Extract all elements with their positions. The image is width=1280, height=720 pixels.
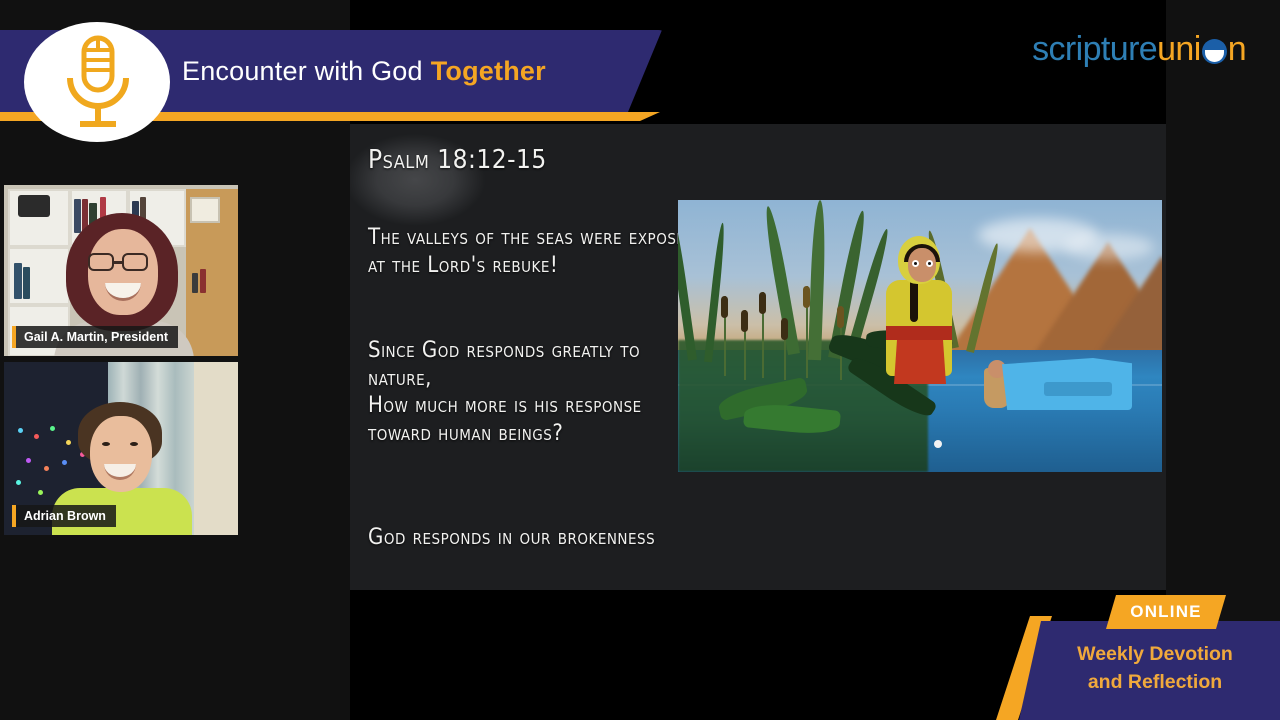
slide-scripture-reference: Psalm 18:12-15	[368, 144, 547, 177]
mountain-3	[1098, 256, 1162, 352]
book	[23, 267, 30, 299]
participant-name: Adrian Brown	[24, 509, 106, 523]
slide-paragraph-1: The valleys of the seas were exposed at …	[368, 224, 698, 279]
blanket-shadow	[1044, 382, 1112, 396]
participant-name: Gail A. Martin, President	[24, 330, 168, 344]
string-light	[16, 480, 21, 485]
cattail	[741, 310, 748, 332]
slide-paragraph-3: God responds in our brokenness	[368, 524, 698, 552]
string-light	[50, 426, 55, 431]
promo-line-1: Weekly Devotion	[1030, 640, 1280, 668]
book	[14, 263, 22, 299]
wood-shelf	[186, 293, 238, 356]
cattail	[759, 292, 766, 314]
participant-eye-left	[102, 442, 110, 446]
presentation-slide: Psalm 18:12-15 The valleys of the seas w…	[350, 124, 1166, 590]
girl-pupil-right	[928, 262, 931, 265]
string-light	[34, 434, 39, 439]
promo-line-2: and Reflection	[1030, 668, 1280, 696]
promo-text: Weekly Devotion and Reflection	[1030, 640, 1280, 697]
eyeglass-right	[122, 253, 148, 271]
book	[192, 273, 198, 293]
participant-eye-right	[130, 442, 138, 446]
girl-sash	[886, 326, 952, 340]
string-light	[38, 490, 43, 495]
string-light	[44, 466, 49, 471]
water-highlight	[934, 440, 942, 448]
show-title-main: Encounter with God	[182, 56, 423, 87]
cattail	[721, 296, 728, 318]
string-light	[66, 440, 71, 445]
string-light	[18, 428, 23, 433]
microphone-icon	[46, 28, 150, 132]
eyeglass-bridge	[114, 261, 124, 264]
participant-video-adrian[interactable]: Adrian Brown	[4, 362, 238, 535]
brand-name-part1: scripture	[1032, 30, 1157, 69]
online-badge: ONLINE	[1106, 595, 1226, 629]
participant-face	[88, 229, 158, 315]
show-title: Encounter with God Together	[182, 30, 652, 112]
brand-name-part2: uni	[1157, 30, 1201, 69]
cloud-2	[1064, 234, 1154, 260]
string-light	[26, 458, 31, 463]
participant-name-tag: Adrian Brown	[12, 505, 116, 527]
book	[74, 199, 81, 233]
book	[200, 269, 206, 293]
slide-paragraph-2: Since God responds greatly to nature, Ho…	[368, 337, 698, 447]
participant-name-tag: Gail A. Martin, President	[12, 326, 178, 348]
girl-pupil-left	[914, 262, 917, 265]
globe-icon	[1202, 39, 1227, 64]
participant-face	[90, 416, 152, 492]
brand-name-part3: n	[1228, 30, 1246, 69]
cattail	[837, 306, 844, 328]
eyeglass-left	[88, 253, 114, 271]
cattail	[803, 286, 810, 308]
broadcast-stage: Psalm 18:12-15 The valleys of the seas w…	[0, 0, 1280, 720]
girl-skirt	[894, 338, 946, 384]
show-title-accent: Together	[431, 56, 546, 87]
string-light	[62, 460, 67, 465]
participant-video-gail[interactable]: Gail A. Martin, President	[4, 185, 238, 356]
slide-illustration	[678, 200, 1162, 472]
scripture-union-logo: scripture uni n	[1032, 30, 1246, 69]
cattail	[781, 318, 788, 340]
picture-frame	[190, 197, 220, 223]
box-object	[18, 195, 50, 217]
